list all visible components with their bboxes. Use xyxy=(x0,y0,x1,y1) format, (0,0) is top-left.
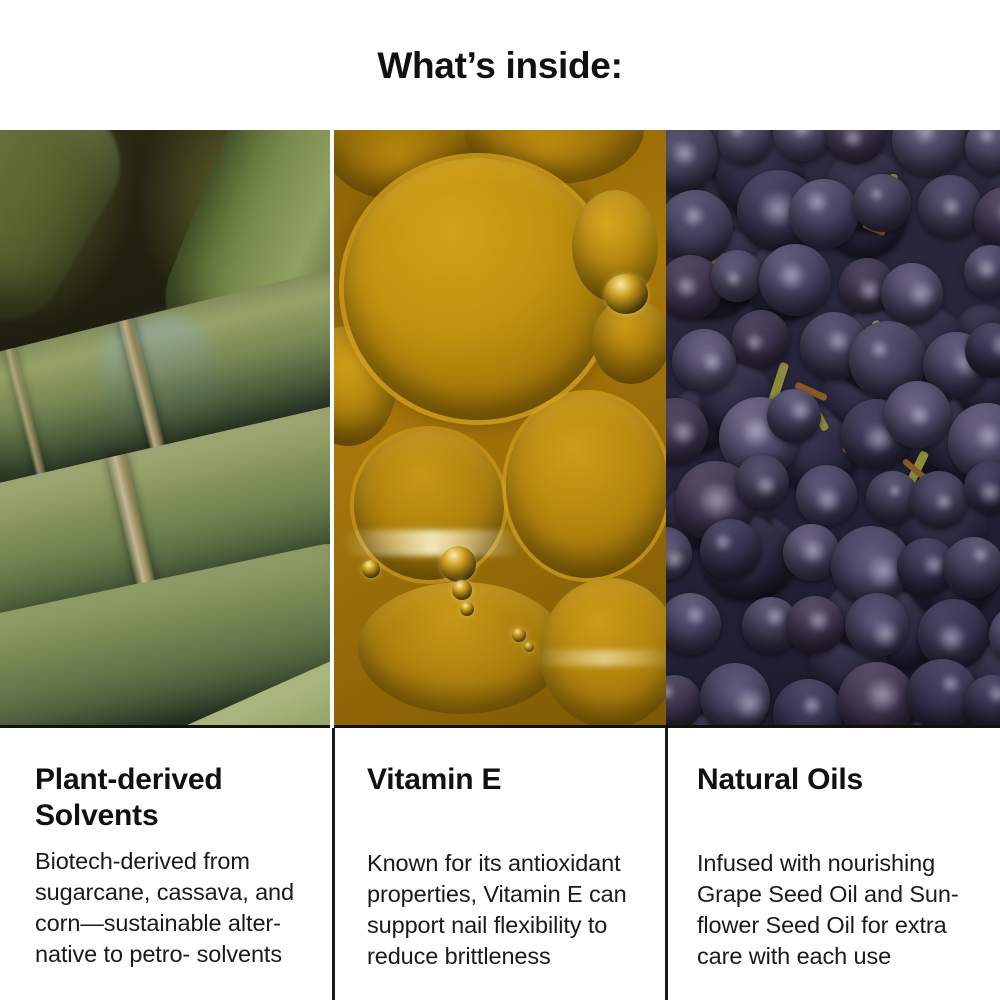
grape-bloom xyxy=(713,532,733,552)
grape-berry xyxy=(732,310,790,368)
ingredient-column-natural-oils: Natural Oils Infused with nourishing Gra… xyxy=(666,130,1000,1000)
oil-bubble xyxy=(506,394,666,578)
oil-highlight xyxy=(342,530,522,556)
grape-berry xyxy=(700,663,770,728)
grape-berry xyxy=(845,593,909,657)
ingredient-column-plant-derived-solvents: Plant-derived Solvents Biotech-derived f… xyxy=(0,130,330,1000)
column-divider-right xyxy=(665,728,668,1000)
oil-droplet xyxy=(362,560,380,578)
grape-bloom xyxy=(792,130,812,139)
grape-bloom xyxy=(989,332,1000,359)
grape-berry xyxy=(918,175,982,239)
grape-bloom xyxy=(888,484,902,498)
card-title: Natural Oils xyxy=(697,762,978,798)
card-title: Vitamin E xyxy=(367,762,644,798)
column-divider-left xyxy=(332,728,335,1000)
grape-berry xyxy=(711,250,763,302)
oil-droplet xyxy=(604,274,648,314)
title-bar: What’s inside: xyxy=(0,0,1000,130)
grape-bloom xyxy=(725,270,742,287)
oil-droplet xyxy=(460,602,474,616)
grape-berry xyxy=(672,329,736,393)
whats-inside-infographic: What’s inside: xyxy=(0,0,1000,1000)
grape-bloom xyxy=(671,140,698,167)
oil-droplet xyxy=(512,628,526,642)
golden-oil-bubbles-photo xyxy=(334,130,666,728)
grape-bloom xyxy=(912,130,938,145)
grape-bloom xyxy=(934,492,954,512)
ingredient-column-vitamin-e: Vitamin E Known for its antioxidant prop… xyxy=(334,130,666,1000)
grape-bloom xyxy=(666,548,686,571)
grape-berry xyxy=(853,174,911,232)
text-block-column-3: Natural Oils Infused with nourishing Gra… xyxy=(666,728,1000,1000)
grape-bloom xyxy=(744,332,765,353)
grape-bloom xyxy=(842,130,864,149)
grape-berry xyxy=(789,179,859,249)
text-block-column-1: Plant-derived Solvents Biotech-derived f… xyxy=(0,728,330,1000)
grape-bloom xyxy=(974,422,1000,451)
grape-bloom xyxy=(940,673,962,695)
grape-bloom xyxy=(697,480,738,521)
grape-bloom xyxy=(863,676,902,715)
grape-bloom xyxy=(701,351,724,374)
grape-bloom xyxy=(906,279,936,309)
grape-bloom xyxy=(764,606,787,629)
grape-bloom xyxy=(825,328,851,354)
grape-bloom xyxy=(986,683,1000,705)
grape-bloom xyxy=(975,257,998,280)
oil-droplet xyxy=(524,642,534,652)
ingredient-columns: Plant-derived Solvents Biotech-derived f… xyxy=(0,130,1000,1000)
grape-bloom xyxy=(776,260,807,291)
grape-berry xyxy=(759,244,831,316)
grape-berry xyxy=(767,389,821,443)
grape-bloom xyxy=(977,479,1000,506)
grape-bloom xyxy=(788,398,814,424)
grape-berry xyxy=(700,519,761,580)
grape-bloom xyxy=(869,339,890,360)
grape-bloom xyxy=(730,130,745,138)
grape-bloom xyxy=(814,486,842,514)
grape-bloom xyxy=(732,686,768,722)
grape-berry xyxy=(884,381,951,448)
grape-berry xyxy=(881,263,943,325)
oil-bubble-large xyxy=(344,158,612,420)
oil-bubble xyxy=(354,430,504,580)
purple-grapes-photo xyxy=(666,130,1000,728)
grape-bloom xyxy=(806,608,831,633)
grape-berry xyxy=(735,455,789,509)
oil-droplet xyxy=(440,546,476,582)
oil-droplet xyxy=(452,580,472,600)
card-title: Plant-derived Solvents xyxy=(35,762,306,834)
grape-bloom xyxy=(685,605,706,626)
oil-highlight xyxy=(534,650,666,666)
grape-berry xyxy=(796,465,857,526)
grape-bloom xyxy=(870,619,901,650)
grape-bloom xyxy=(666,683,675,700)
card-body: Biotech-derived from sugarcane, cassava,… xyxy=(35,846,306,970)
grape-bloom xyxy=(799,537,827,565)
oil-bubble xyxy=(358,582,566,714)
card-body: Infused with nourishing Grape Seed Oil a… xyxy=(697,848,978,972)
grape-berry xyxy=(943,537,1000,598)
grape-berry xyxy=(918,599,989,670)
grape-bloom xyxy=(971,546,990,565)
grape-bloom xyxy=(754,474,777,497)
page-title: What’s inside: xyxy=(377,47,622,84)
grape-bloom xyxy=(857,278,882,303)
text-block-column-2: Vitamin E Known for its antioxidant prop… xyxy=(334,728,666,1000)
grape-bloom xyxy=(681,204,706,229)
grape-berry xyxy=(786,596,844,654)
grape-bloom xyxy=(804,190,829,215)
grape-bloom xyxy=(908,404,931,427)
grape-bloom xyxy=(941,197,961,217)
grape-bloom xyxy=(936,622,967,653)
grape-bloom xyxy=(995,200,1000,225)
grape-berry xyxy=(910,471,968,529)
grape-bloom xyxy=(978,130,997,145)
grape-bloom xyxy=(670,419,697,446)
card-body: Known for its antioxidant properties, Vi… xyxy=(367,848,644,972)
grape-bloom xyxy=(801,694,823,716)
grape-bloom xyxy=(869,187,884,202)
grape-bloom xyxy=(674,274,699,299)
sugarcane-stalks-photo xyxy=(0,130,330,728)
